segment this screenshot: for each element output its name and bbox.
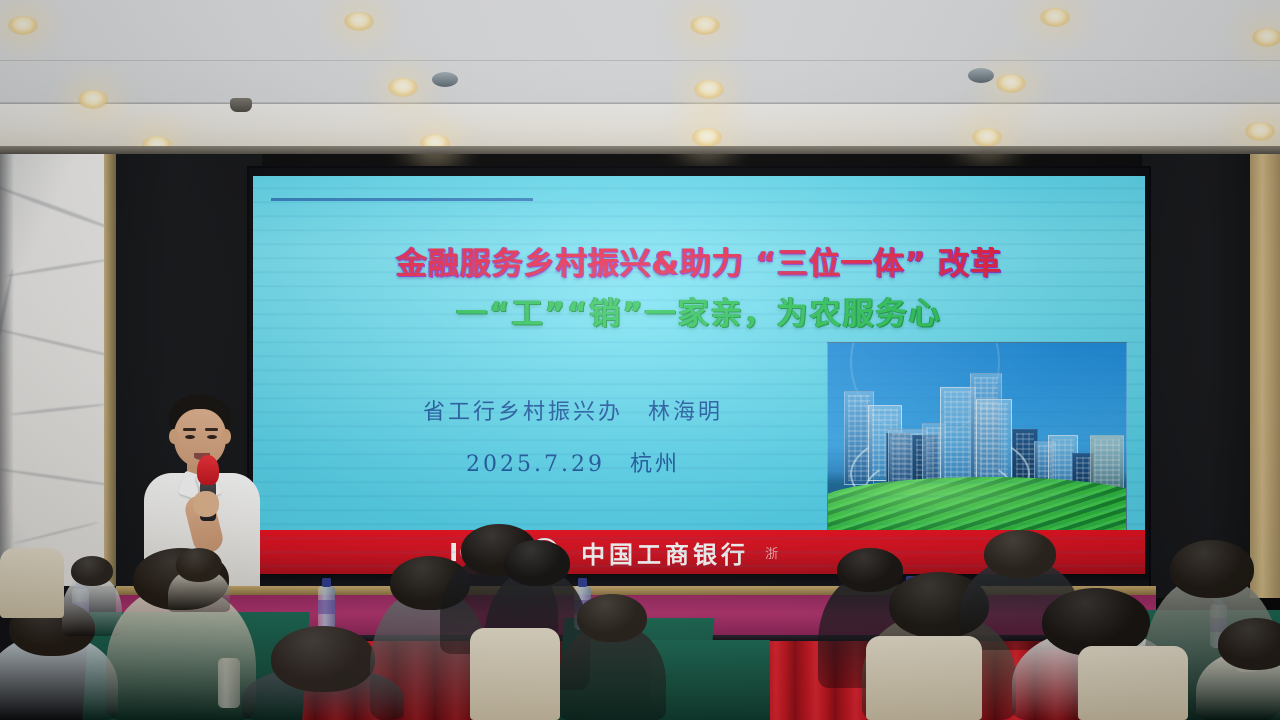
ceiling-vent-2 (968, 68, 994, 83)
gold-trim-strip-right (1250, 146, 1280, 598)
audience-head (1218, 618, 1280, 670)
city-skyline-illustration (827, 342, 1127, 538)
dark-panel-right (1142, 146, 1252, 598)
farmland-field (827, 477, 1127, 538)
ceiling (0, 0, 1280, 152)
chair-back-left (0, 548, 64, 618)
downlight-12 (972, 128, 1002, 147)
audience-member-15 (1196, 618, 1280, 720)
conference-room-photo: 金融服务乡村振兴&助力 “三位一体” 改革 一“工”“销”一家亲，为农服务心 省… (0, 0, 1280, 720)
presenter-brow-right (205, 428, 218, 431)
downlight-8 (996, 74, 1026, 93)
slide-title-line1: 金融服务乡村振兴&助力 “三位一体” 改革 (253, 238, 1145, 283)
presentation-slide[interactable]: 金融服务乡村振兴&助力 “三位一体” 改革 一“工”“销”一家亲，为农服务心 省… (253, 176, 1145, 574)
audience-member-9 (558, 594, 666, 720)
ceiling-speaker-1 (230, 98, 252, 112)
wall-left-shadow (0, 146, 14, 598)
downlight-7 (694, 80, 724, 99)
downlight-4 (1040, 8, 1070, 27)
slide-rule-line (271, 198, 533, 201)
downlight-6 (388, 78, 418, 97)
ceiling-vent-1 (432, 72, 458, 87)
downlight-11 (692, 128, 722, 147)
downlight-14 (1252, 28, 1280, 47)
water-bottle-2 (318, 586, 335, 630)
presenter-ear-right (221, 429, 231, 444)
wall-top-beam (0, 146, 1280, 154)
downlight-3 (690, 16, 720, 35)
table-cloth-row-front (650, 640, 770, 720)
slide-title-line2: 一“工”“销”一家亲，为农服务心 (253, 288, 1145, 333)
slide-date-city-line: 2025.7.29 杭州 (293, 446, 853, 478)
ceiling-soffit (0, 103, 1280, 152)
downlight-1 (8, 16, 38, 35)
presenter-brow-left (183, 428, 196, 431)
downlight-5 (78, 90, 108, 109)
gold-trim-strip-left (104, 150, 116, 598)
chair-back-right (866, 636, 982, 720)
audience-head (1170, 540, 1254, 598)
presenter-eye-right (207, 435, 217, 439)
chair-back-mid (470, 628, 560, 720)
downlight-2 (344, 12, 374, 31)
audience-head (271, 626, 375, 692)
audience-head (176, 548, 222, 582)
audience-member-4 (168, 548, 230, 612)
icbc-chinese-name: 中国工商银行 (581, 535, 749, 570)
microphone-head-icon (197, 455, 219, 485)
chair-back-far-right (1078, 646, 1188, 720)
audience-head (504, 540, 570, 586)
presenter-hand (193, 491, 219, 517)
audience-head (577, 594, 647, 642)
slide-presenter-line: 省工行乡村振兴办 林海明 (293, 394, 853, 426)
downlight-13 (1245, 122, 1275, 141)
presenter-ear-left (169, 429, 179, 444)
marble-wall-left (0, 146, 104, 598)
icbc-branch-suffix: 浙 (765, 543, 778, 562)
audience-head (984, 530, 1056, 578)
presenter-eye-left (185, 435, 195, 439)
